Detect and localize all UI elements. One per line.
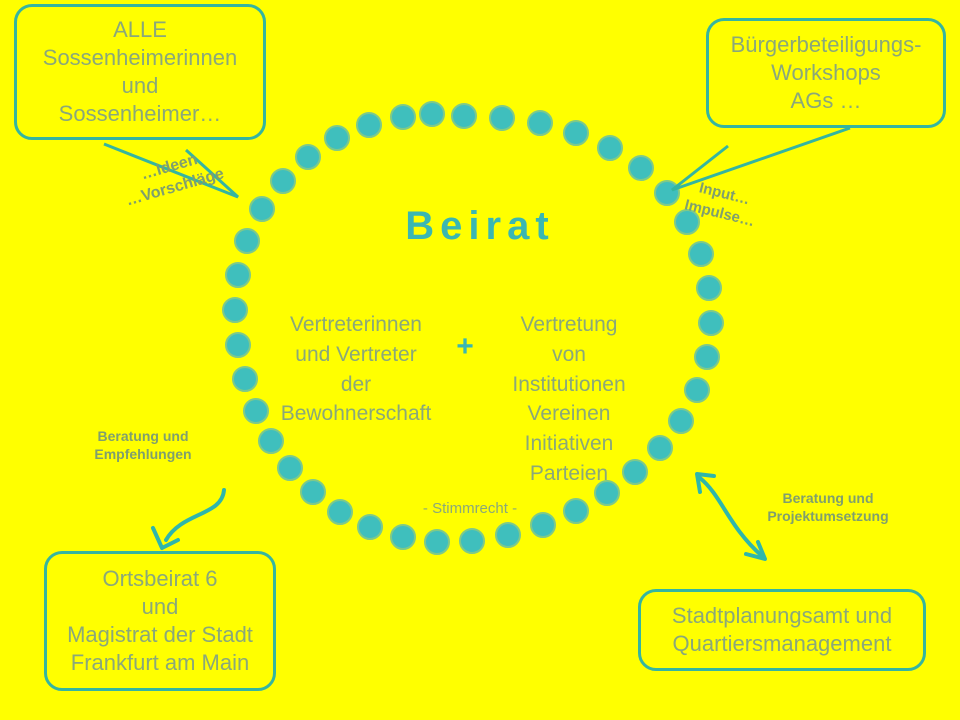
bubble-workshops-line-3: AGs … [709,87,943,115]
bubble-citizens-line-4: Sossenheimer… [17,100,263,128]
bubble-ortsbeirat[interactable]: Ortsbeirat 6 und Magistrat der Stadt Fra… [44,551,276,691]
column-institutions: Vertretung von Institutionen Vereinen In… [488,310,650,489]
bubble-stadtplanung-line-1: Stadtplanungsamt und [641,602,923,630]
arrow-beratung-empfehlungen-head [153,528,178,548]
bubble-workshops-line-2: Workshops [709,59,943,87]
plus-icon: + [450,332,480,362]
column-residents-line-4: Bewohnerschaft [272,399,440,429]
bubble-citizens-line-2: Sossenheimerinnen [17,44,263,72]
column-institutions-line-4: Vereinen [488,399,650,429]
column-residents-line-1: Vertreterinnen [272,310,440,340]
bubble-citizens-line-1: ALLE [17,16,263,44]
label-beratung-empfehlungen: Beratung und Empfehlungen [78,427,208,463]
bubble-citizens-line-3: und [17,72,263,100]
arrow-beratung-projektumsetzung-head-up [697,474,714,492]
column-residents-line-2: und Vertreter [272,340,440,370]
label-ideen-vorschlaege: …Ideen …Vorschläge [118,144,227,212]
bubble-stadtplanung[interactable]: Stadtplanungsamt und Quartiersmanagement [638,589,926,671]
column-institutions-line-2: von [488,340,650,370]
column-institutions-line-6: Parteien [488,459,650,489]
bubble-citizens[interactable]: ALLE Sossenheimerinnen und Sossenheimer… [14,4,266,140]
diagram-canvas: ALLE Sossenheimerinnen und Sossenheimer…… [0,0,960,720]
voting-rights-note: - Stimmrecht - [380,500,560,517]
bubble-workshops[interactable]: Bürgerbeteiligungs- Workshops AGs … [706,18,946,128]
label-input-impulse: Input… Impulse… [683,176,762,231]
label-beratung-projektumsetzung: Beratung und Projektumsetzung [748,489,908,525]
diagram-title: Beirat [330,204,630,249]
arrow-beratung-projektumsetzung-head-down [746,542,765,559]
bubble-stadtplanung-line-2: Quartiersmanagement [641,630,923,658]
arrow-beratung-empfehlungen [166,490,224,540]
bubble-ortsbeirat-line-2: und [47,593,273,621]
bubble-workshops-line-1: Bürgerbeteiligungs- [709,31,943,59]
bubble-ortsbeirat-line-3: Magistrat der Stadt [47,621,273,649]
column-institutions-line-1: Vertretung [488,310,650,340]
column-institutions-line-3: Institutionen [488,370,650,400]
column-residents-line-3: der [272,370,440,400]
bubble-ortsbeirat-line-1: Ortsbeirat 6 [47,565,273,593]
column-institutions-line-5: Initiativen [488,429,650,459]
column-residents: Vertreterinnen und Vertreter der Bewohne… [272,310,440,429]
bubble-ortsbeirat-line-4: Frankfurt am Main [47,649,273,677]
